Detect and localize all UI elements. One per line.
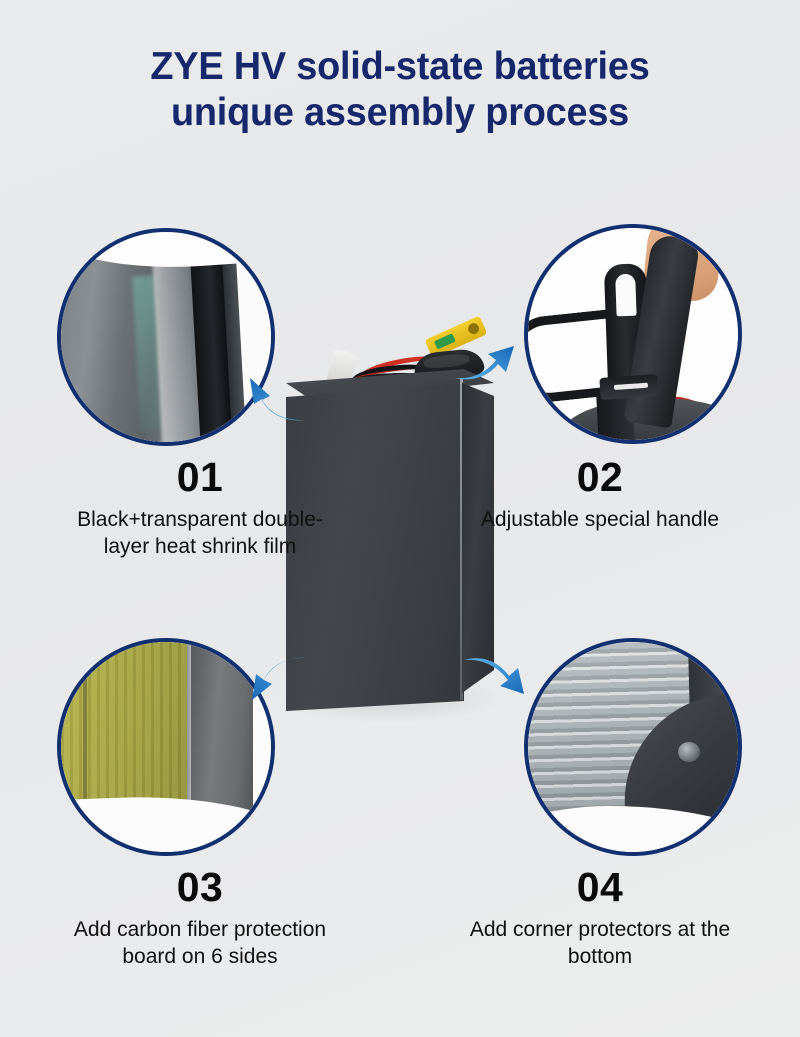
step-04-caption: Add corner protectors at the bottom (440, 912, 760, 970)
step-04-label: 04 Add corner protectors at the bottom (440, 862, 760, 970)
step-01-label: 01 Black+transparent double-layer heat s… (40, 452, 360, 560)
heat-shrink-film-photo (57, 228, 275, 446)
step-02-label: 02 Adjustable special handle (440, 452, 760, 533)
step-03-caption: Add carbon fiber protection board on 6 s… (40, 912, 360, 970)
step-01-number: 01 (40, 452, 360, 502)
infographic-page: ZYE HV solid-state batteries unique asse… (0, 0, 800, 1037)
arrow-to-step-04 (462, 652, 528, 704)
step-04-number: 04 (440, 862, 760, 912)
arrow-to-step-03 (246, 652, 310, 704)
arrow-to-step-02 (452, 334, 518, 382)
handle-strap-buckle (599, 374, 658, 400)
film-photo-inner (61, 232, 271, 442)
step-03-number: 03 (40, 862, 360, 912)
page-title: ZYE HV solid-state batteries unique asse… (0, 44, 800, 136)
title-line-1: ZYE HV solid-state batteries (12, 44, 788, 90)
carbon-fiber-photo-inner (61, 642, 271, 852)
title-line-2: unique assembly process (12, 90, 788, 136)
velcro-handle-photo (524, 224, 742, 444)
step-01-caption: Black+transparent double-layer heat shri… (40, 502, 360, 560)
arrow-to-step-01 (246, 374, 310, 426)
handle-photo-inner (528, 228, 738, 440)
step-03-label: 03 Add carbon fiber protection board on … (40, 862, 360, 970)
step-02-caption: Adjustable special handle (440, 502, 760, 533)
screw-hole (678, 742, 700, 762)
step-02-number: 02 (440, 452, 760, 502)
corner-protector-photo (524, 638, 742, 856)
carbon-fiber-board-photo (57, 638, 275, 856)
corner-protector-photo-inner (528, 642, 738, 852)
